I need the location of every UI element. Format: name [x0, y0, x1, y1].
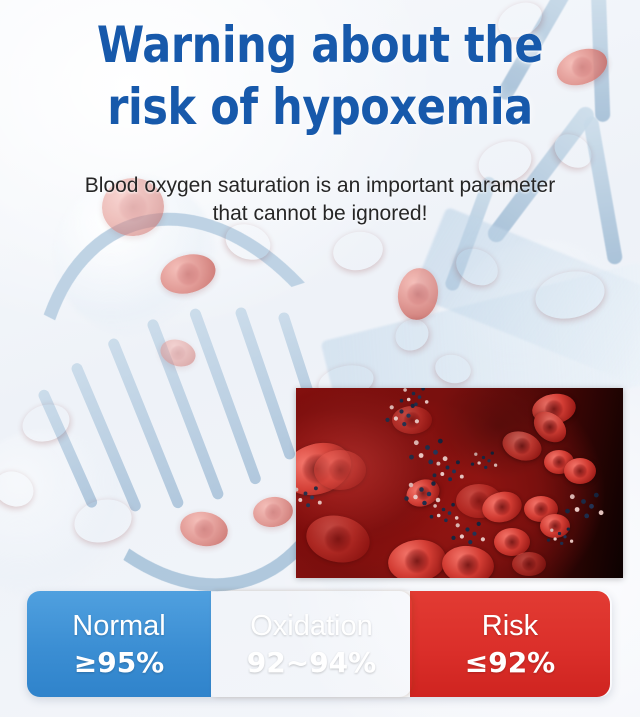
molecule-cluster-icon [399, 409, 403, 413]
range-segment-risk[interactable]: Risk ≤92% [410, 591, 610, 697]
photo-red-blood-cell [564, 458, 596, 484]
photo-red-blood-cell [385, 536, 448, 578]
range-segment-normal[interactable]: Normal ≥95% [27, 591, 211, 697]
molecule-cluster-icon [304, 492, 308, 496]
photo-red-blood-cell [392, 406, 432, 434]
page-subtitle: Blood oxygen saturation is an important … [30, 172, 610, 228]
photo-red-blood-cell [402, 475, 443, 512]
photo-red-blood-cell [540, 514, 570, 538]
molecule-cluster-icon [419, 487, 424, 492]
range-value-risk: ≤92% [465, 646, 555, 680]
page-title: Warning about the risk of hypoxemia [45, 14, 595, 138]
range-label-risk: Risk [482, 609, 538, 643]
photo-red-blood-cell [440, 543, 496, 578]
photo-red-blood-cell [314, 450, 366, 490]
molecule-cluster-icon [442, 508, 446, 512]
range-value-oxidation: 92~94% [247, 646, 376, 680]
headline-line-2: risk of hypoxemia [45, 76, 595, 138]
range-segment-oxidation[interactable]: Oxidation 92~94% [211, 591, 412, 697]
poster-root: Warning about the risk of hypoxemia Bloo… [0, 0, 640, 717]
molecule-cluster-icon [581, 499, 586, 504]
molecule-cluster-icon [412, 392, 416, 396]
subtitle-line-2: that cannot be ignored! [213, 202, 428, 225]
range-label-oxidation: Oxidation [250, 609, 373, 643]
blood-vessel-photo [296, 388, 623, 578]
photo-red-blood-cell [512, 552, 546, 576]
molecule-cluster-icon [482, 456, 485, 459]
molecule-cluster-icon [558, 532, 561, 535]
molecule-cluster-icon [425, 445, 430, 450]
oxygen-range-banner: Normal ≥95% Oxidation 92~94% Risk ≤92% [27, 591, 612, 697]
molecule-cluster-icon [465, 527, 469, 531]
photo-red-blood-cell [302, 510, 374, 568]
range-label-normal: Normal [72, 609, 165, 643]
molecule-cluster-icon [446, 466, 450, 470]
subtitle-line-1: Blood oxygen saturation is an important … [85, 174, 555, 197]
range-value-normal: ≥95% [74, 646, 164, 680]
headline-line-1: Warning about the [97, 16, 543, 74]
